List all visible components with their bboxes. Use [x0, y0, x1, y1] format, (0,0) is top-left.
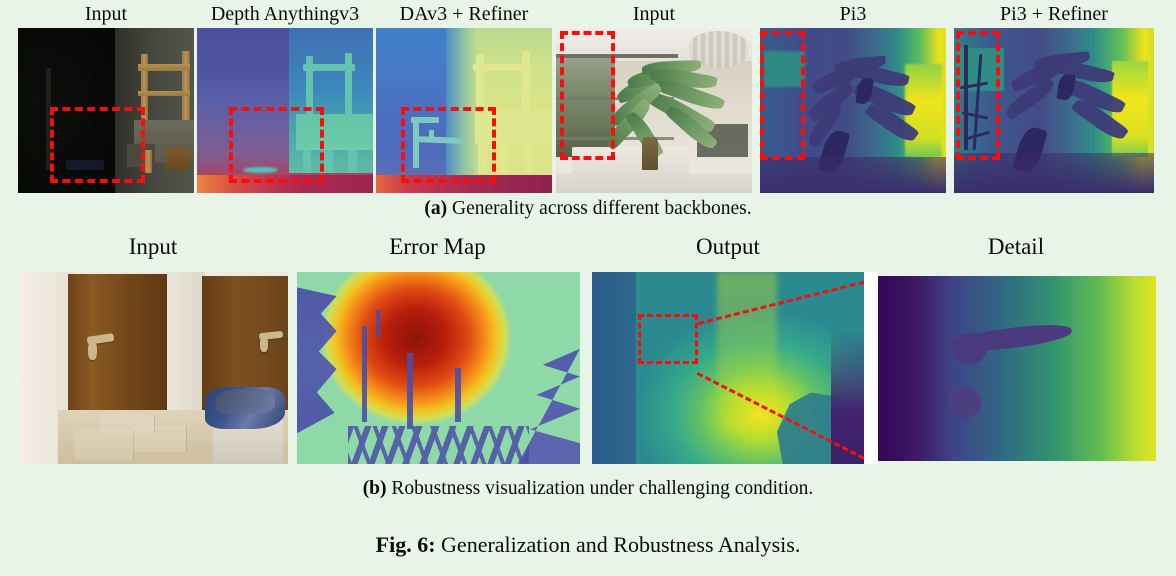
- column-title-a-2: DAv3 + Refiner: [376, 2, 552, 26]
- dav3-bench: [296, 114, 373, 150]
- subfigure-a-label: (a): [424, 198, 447, 219]
- error-streak-3: [455, 368, 460, 422]
- figure-caption: Fig. 6: Generalization and Robustness An…: [0, 532, 1176, 558]
- panel-dav3-plus-refiner: [376, 28, 552, 193]
- dav3r-detail-backrest: [411, 117, 439, 123]
- panel-detail-crop: [878, 276, 1156, 461]
- column-title-a-0: Input: [18, 2, 194, 26]
- dav3r-detail-leg: [413, 119, 419, 169]
- output-left-wall: [592, 272, 636, 464]
- dav3-chair-rail: [303, 64, 356, 71]
- dav3-leg-3: [348, 150, 357, 173]
- panel-pi3: [760, 28, 946, 193]
- column-title-a-5: Pi3 + Refiner: [954, 2, 1154, 26]
- error-streak-4: [376, 310, 379, 337]
- chair-rail-top: [138, 64, 191, 71]
- dav3-leg-2: [324, 150, 333, 173]
- dav3r-post-r: [522, 51, 530, 120]
- detail-keyhole: [948, 387, 981, 418]
- subfigure-b-caption-text: Robustness visualization under challengi…: [391, 478, 813, 499]
- dav3-chair-post-r: [345, 53, 352, 119]
- dark-room-door-edge: [46, 68, 50, 170]
- detail-left-shade: [878, 276, 950, 461]
- subfigure-a-caption: (a) Generality across different backbone…: [0, 198, 1176, 220]
- output-corridor-glow: [717, 272, 777, 433]
- pi3r-foreground: [954, 153, 1154, 193]
- floor-tile-1: [74, 429, 134, 460]
- pi3-teal-patch: [764, 51, 805, 87]
- column-title-a-3: Input: [556, 2, 752, 26]
- panel-pi3-plus-refiner: [954, 28, 1154, 193]
- error-map-floor-noise: [348, 426, 529, 464]
- detail-handle-knob: [953, 333, 986, 364]
- error-streak-2: [407, 353, 413, 430]
- wooden-box: [166, 148, 191, 169]
- dav3r-mid-wall: [446, 28, 478, 175]
- subfigure-a-caption-text: Generality across different backbones.: [452, 198, 752, 219]
- panel-input-dark-room: [18, 28, 194, 193]
- subfigure-b-label: (b): [363, 478, 387, 499]
- doors-mid-wall: [167, 272, 205, 433]
- panel-output-depth: [592, 272, 864, 464]
- door-handle-right-plate: [260, 336, 268, 351]
- panel-error-map: [297, 272, 580, 464]
- column-title-b-2: Output: [592, 235, 864, 259]
- pi3r-stem-1: [964, 45, 968, 151]
- dav3-floor-blip: [243, 167, 278, 174]
- chair-rail-mid: [138, 91, 191, 97]
- subfigure-b-caption: (b) Robustness visualization under chall…: [0, 478, 1176, 500]
- dav3r-leg-1: [478, 144, 487, 174]
- figure-number: Fig. 6:: [376, 532, 436, 557]
- panel-input-doors: [20, 272, 288, 464]
- floor-object: [66, 160, 105, 170]
- figure-6: Input Depth Anythingv3 DAv3 + Refiner In…: [0, 0, 1176, 576]
- floor-tile-3: [100, 414, 155, 433]
- plant-trunk: [642, 137, 658, 170]
- dav3r-leg-2: [499, 144, 508, 174]
- column-title-b-1: Error Map: [295, 235, 580, 259]
- panel-depth-anythingv3: [197, 28, 373, 193]
- chair-front-leg: [145, 150, 152, 173]
- dav3-floor-band: [197, 175, 373, 193]
- dav3r-bench: [475, 111, 552, 144]
- pi3-foreground: [760, 157, 946, 193]
- shoes-upper: [216, 389, 275, 414]
- plant-shelf-wall: [556, 54, 615, 156]
- dav3r-floor-band: [376, 175, 552, 193]
- plant-rail-top: [556, 54, 678, 58]
- dav3r-leg-3: [524, 144, 533, 174]
- error-streak-1: [362, 326, 367, 422]
- figure-title: Generalization and Robustness Analysis.: [441, 532, 800, 557]
- detail-gutter: [864, 272, 878, 464]
- dav3-leg-1: [303, 150, 312, 173]
- door-handle-left-plate: [88, 341, 97, 360]
- dav3r-rail: [473, 64, 531, 71]
- column-title-b-0: Input: [18, 235, 288, 259]
- column-title-b-3: Detail: [876, 235, 1156, 259]
- column-title-a-1: Depth Anythingv3: [197, 2, 373, 26]
- panel-input-plant-lobby: [556, 28, 752, 193]
- dav3r-detail-strut: [429, 130, 434, 140]
- output-right-dark: [831, 330, 864, 464]
- plant-planter: [572, 147, 690, 187]
- column-title-a-4: Pi3: [760, 2, 946, 26]
